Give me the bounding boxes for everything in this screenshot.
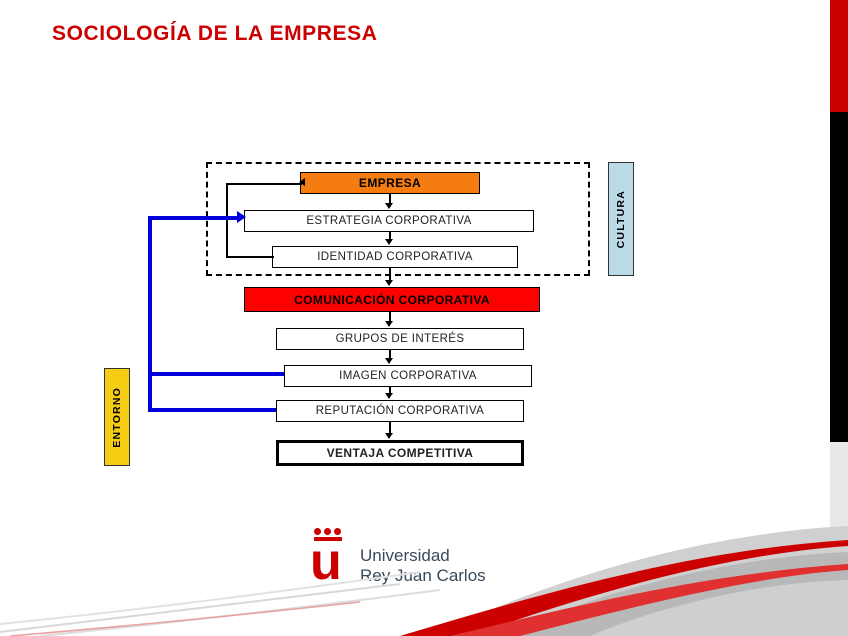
feedback-line-top [226,183,302,185]
arrowhead-identidad-comunicacion [385,280,393,286]
node-comunicacion: COMUNICACIÓN CORPORATIVA [244,287,540,312]
arrowhead-comunicacion-grupos [385,321,393,327]
blue-arrowhead-to-estrategia [237,211,246,223]
arrowhead-reputacion-ventaja [385,433,393,439]
feedback-line-vert [226,183,228,257]
logo-wordmark: Universidad Rey Juan Carlos [360,546,486,586]
blue-path-reputacion-branch [148,408,276,412]
arrowhead-empresa-estrategia [385,203,393,209]
edge-decoration-grey [830,442,848,636]
edge-decoration-red [830,0,848,112]
logo-line-2: Rey Juan Carlos [360,566,486,586]
side-label-entorno: ENTORNO [104,368,130,466]
blue-path-top-horizontal [148,216,240,220]
side-label-entorno-text: ENTORNO [111,387,123,448]
feedback-line-bottom [226,256,274,258]
side-label-cultura: CULTURA [608,162,634,276]
node-ventaja: VENTAJA COMPETITIVA [276,440,524,466]
arrowhead-grupos-imagen [385,358,393,364]
node-identidad: IDENTIDAD CORPORATIVA [272,246,518,268]
logo-line-1: Universidad [360,546,486,566]
node-estrategia: ESTRATEGIA CORPORATIVA [244,210,534,232]
slide-title: SOCIOLOGÍA DE LA EMPRESA [52,22,378,46]
node-grupos: GRUPOS DE INTERÉS [276,328,524,350]
logo-universidad-rey-juan-carlos: u Universidad Rey Juan Carlos [300,524,530,594]
node-imagen: IMAGEN CORPORATIVA [284,365,532,387]
node-reputacion: REPUTACIÓN CORPORATIVA [276,400,524,422]
arrowhead-identidad-empresa [299,178,305,186]
node-empresa: EMPRESA [300,172,480,194]
side-label-cultura-text: CULTURA [615,190,627,248]
logo-letter: u [310,536,342,588]
diagram-canvas: CULTURA ENTORNO EMPRESA ESTRATEGIA CORPO… [100,150,660,490]
arrowhead-estrategia-identidad [385,239,393,245]
arrowhead-imagen-reputacion [385,393,393,399]
blue-path-vertical [148,216,152,412]
edge-decoration-black [830,112,848,442]
blue-path-imagen-branch [148,372,284,376]
